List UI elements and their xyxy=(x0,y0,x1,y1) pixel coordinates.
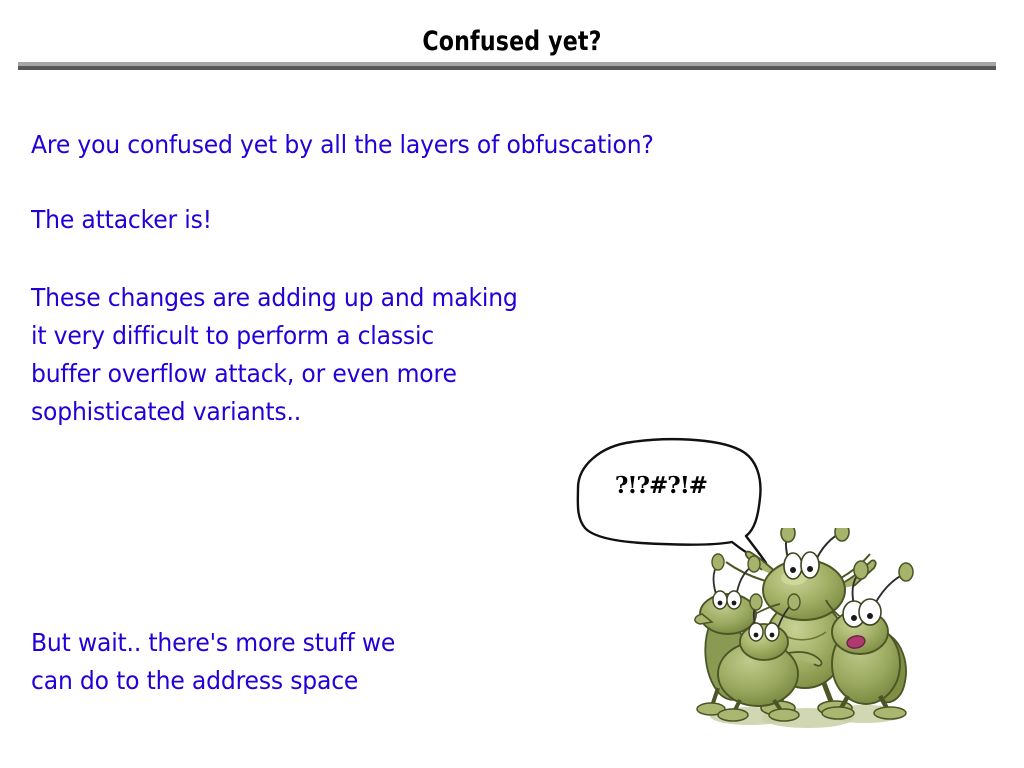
title-divider xyxy=(18,62,996,70)
body-paragraph-3: These changes are adding up and making i… xyxy=(31,279,518,431)
body-paragraph-2: The attacker is! xyxy=(31,201,212,239)
speech-bubble-text: ?!?#?!# xyxy=(566,472,756,499)
title-divider-dark-band xyxy=(18,66,996,70)
page-title: Confused yet? xyxy=(92,26,932,57)
cartoon-bugs-image xyxy=(688,528,920,733)
body-paragraph-4: But wait.. there's more stuff we can do … xyxy=(31,624,395,700)
three-bugs-icon xyxy=(688,528,920,733)
body-paragraph-1: Are you confused yet by all the layers o… xyxy=(31,126,654,164)
slide-canvas: Confused yet? Are you confused yet by al… xyxy=(0,0,1024,768)
